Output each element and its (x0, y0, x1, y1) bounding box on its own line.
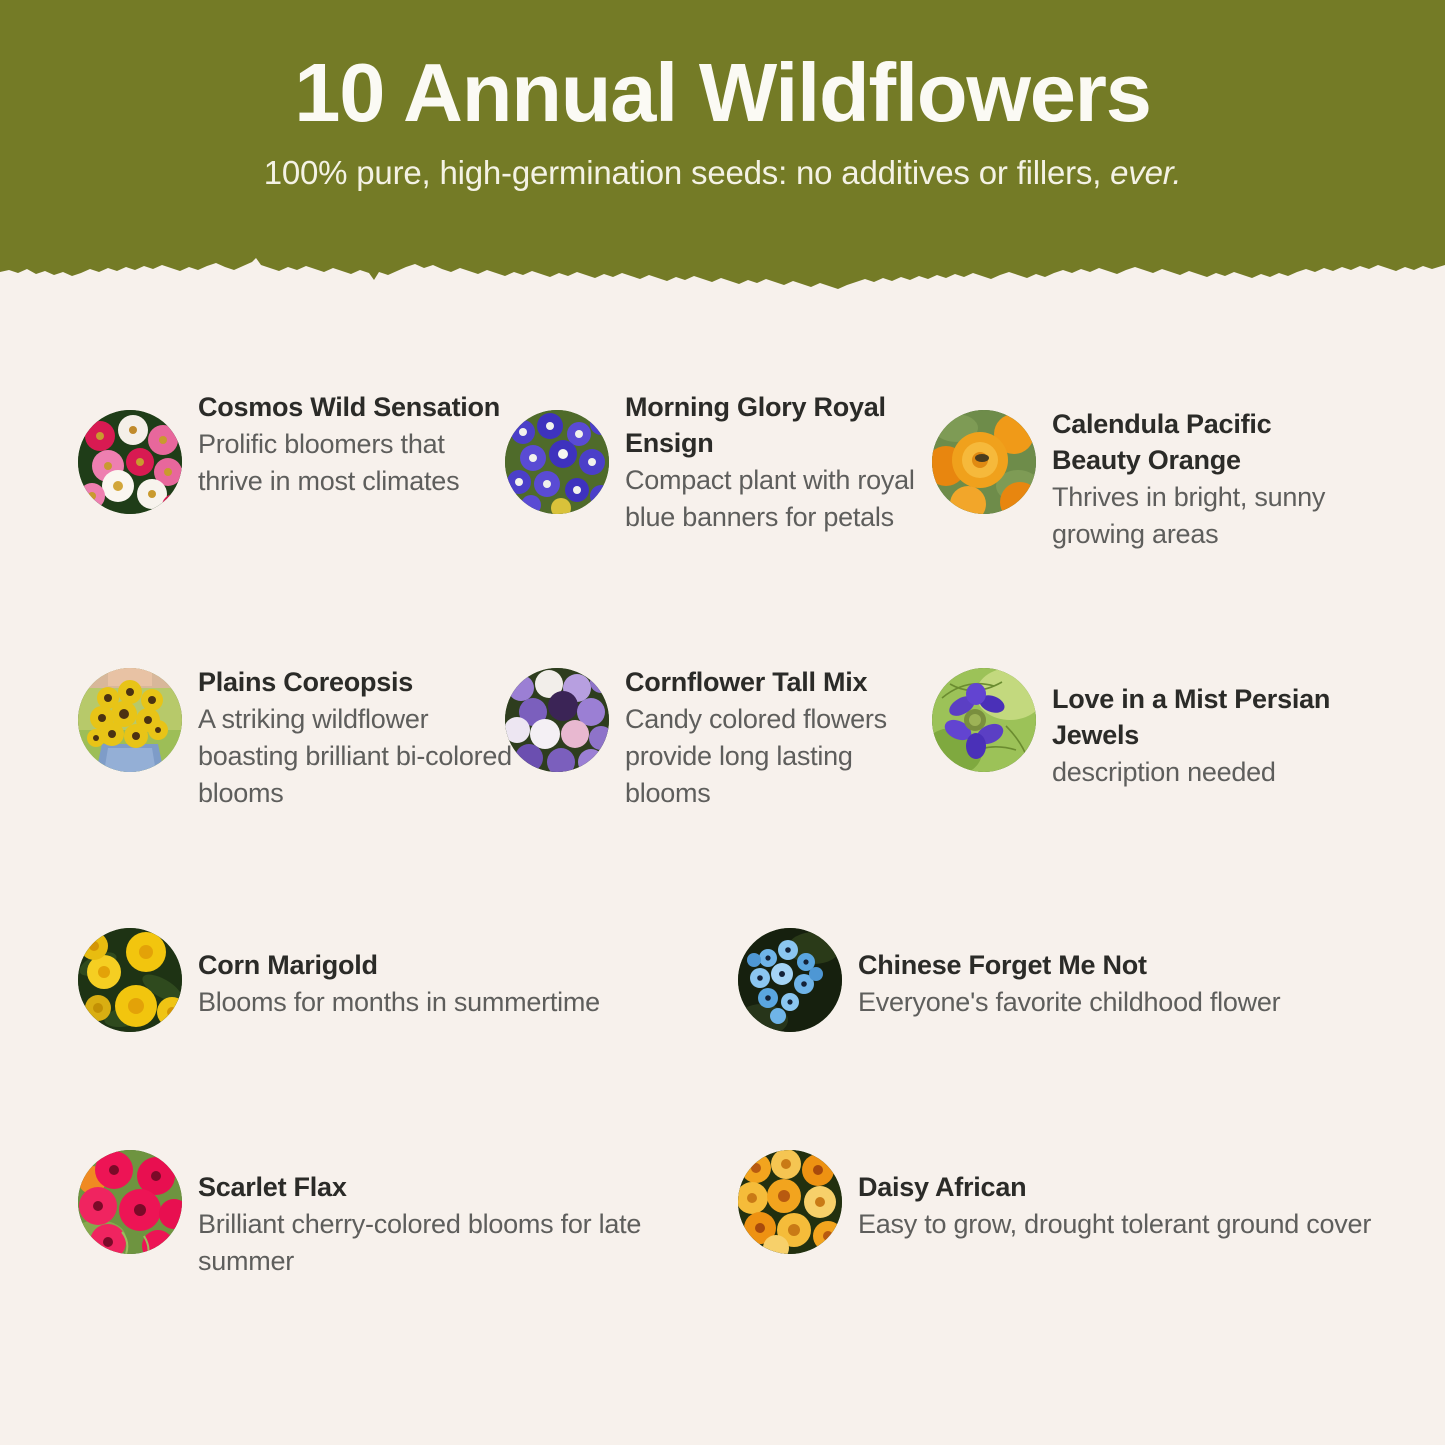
flower-description: Blooms for months in summertime (198, 984, 738, 1021)
flower-name: Plains Coreopsis (198, 665, 513, 701)
flower-text-block: Cornflower Tall Mix Candy colored flower… (625, 663, 940, 813)
plains-coreopsis-thumbnail-icon (78, 668, 182, 772)
flower-description: Brilliant cherry-colored blooms for late… (198, 1206, 738, 1281)
flower-item-plains-coreopsis[interactable]: Plains Coreopsis A striking wildflower b… (78, 668, 513, 813)
flower-description: Prolific bloomers that thrive in most cl… (198, 426, 513, 501)
flower-item-calendula-pacific-beauty-orange[interactable]: Calendula Pacific Beauty Orange Thrives … (932, 410, 1367, 553)
flower-item-corn-marigold[interactable]: Corn Marigold Blooms for months in summe… (78, 928, 738, 1032)
flower-description: Everyone's favorite childhood flower (858, 984, 1398, 1021)
flower-text-block: Corn Marigold Blooms for months in summe… (198, 946, 738, 1021)
flower-text-block: Plains Coreopsis A striking wildflower b… (198, 663, 513, 813)
flower-name: Scarlet Flax (198, 1170, 738, 1206)
flower-name: Cosmos Wild Sensation (198, 390, 513, 426)
calendula-pacific-beauty-orange-thumbnail-icon (932, 410, 1036, 514)
subtitle-emphasis-text: ever. (1110, 154, 1181, 191)
flower-row-2: Plains Coreopsis A striking wildflower b… (0, 668, 1445, 813)
flower-description: Thrives in bright, sunny growing areas (1052, 479, 1367, 554)
flower-text-block: Scarlet Flax Brilliant cherry-colored bl… (198, 1168, 738, 1280)
flower-name: Calendula Pacific Beauty Orange (1052, 407, 1367, 479)
cornflower-tall-mix-thumbnail-icon (505, 668, 609, 772)
flower-description: Easy to grow, drought tolerant ground co… (858, 1206, 1398, 1243)
header-text-group: 10 Annual Wildflowers 100% pure, high-ge… (0, 0, 1445, 192)
torn-paper-edge-icon (0, 256, 1445, 300)
flower-row-1: Cosmos Wild Sensation Prolific bloomers … (0, 410, 1445, 553)
flower-name: Morning Glory Royal Ensign (625, 390, 940, 462)
flower-row-4: Scarlet Flax Brilliant cherry-colored bl… (0, 1150, 1445, 1280)
daisy-african-thumbnail-icon (738, 1150, 842, 1254)
flower-name: Cornflower Tall Mix (625, 665, 940, 701)
flower-item-chinese-forget-me-not[interactable]: Chinese Forget Me Not Everyone's favorit… (738, 928, 1398, 1032)
flower-description: Candy colored flowers provide long lasti… (625, 701, 940, 813)
flower-text-block: Morning Glory Royal Ensign Compact plant… (625, 388, 940, 536)
flower-name: Love in a Mist Persian Jewels (1052, 682, 1367, 754)
flower-text-block: Chinese Forget Me Not Everyone's favorit… (858, 946, 1398, 1021)
flower-item-cornflower-tall-mix[interactable]: Cornflower Tall Mix Candy colored flower… (505, 668, 940, 813)
flower-item-scarlet-flax[interactable]: Scarlet Flax Brilliant cherry-colored bl… (78, 1150, 738, 1280)
subtitle-main-text: 100% pure, high-germination seeds: no ad… (264, 154, 1110, 191)
morning-glory-royal-ensign-thumbnail-icon (505, 410, 609, 514)
flower-name: Corn Marigold (198, 948, 738, 984)
flower-text-block: Calendula Pacific Beauty Orange Thrives … (1052, 405, 1367, 553)
flower-item-love-in-a-mist-persian-jewels[interactable]: Love in a Mist Persian Jewels descriptio… (932, 668, 1367, 813)
flower-description: A striking wildflower boasting brilliant… (198, 701, 513, 813)
chinese-forget-me-not-thumbnail-icon (738, 928, 842, 1032)
flower-name: Chinese Forget Me Not (858, 948, 1398, 984)
flower-item-cosmos-wild-sensation[interactable]: Cosmos Wild Sensation Prolific bloomers … (78, 410, 513, 553)
header-banner: 10 Annual Wildflowers 100% pure, high-ge… (0, 0, 1445, 300)
cosmos-wild-sensation-thumbnail-icon (78, 410, 182, 514)
flower-grid: Cosmos Wild Sensation Prolific bloomers … (0, 300, 1445, 1445)
flower-item-daisy-african[interactable]: Daisy African Easy to grow, drought tole… (738, 1150, 1398, 1280)
flower-description: description needed (1052, 754, 1367, 791)
flower-name: Daisy African (858, 1170, 1398, 1206)
flower-description: Compact plant with royal blue banners fo… (625, 462, 940, 537)
page-subtitle: 100% pure, high-germination seeds: no ad… (0, 154, 1445, 192)
scarlet-flax-thumbnail-icon (78, 1150, 182, 1254)
flower-text-block: Love in a Mist Persian Jewels descriptio… (1052, 680, 1367, 791)
flower-row-3: Corn Marigold Blooms for months in summe… (0, 928, 1445, 1032)
flower-text-block: Cosmos Wild Sensation Prolific bloomers … (198, 388, 513, 500)
love-in-a-mist-persian-jewels-thumbnail-icon (932, 668, 1036, 772)
page-title: 10 Annual Wildflowers (0, 48, 1445, 138)
flower-item-morning-glory-royal-ensign[interactable]: Morning Glory Royal Ensign Compact plant… (505, 410, 940, 553)
flower-text-block: Daisy African Easy to grow, drought tole… (858, 1168, 1398, 1243)
corn-marigold-thumbnail-icon (78, 928, 182, 1032)
infographic-page: 10 Annual Wildflowers 100% pure, high-ge… (0, 0, 1445, 1445)
